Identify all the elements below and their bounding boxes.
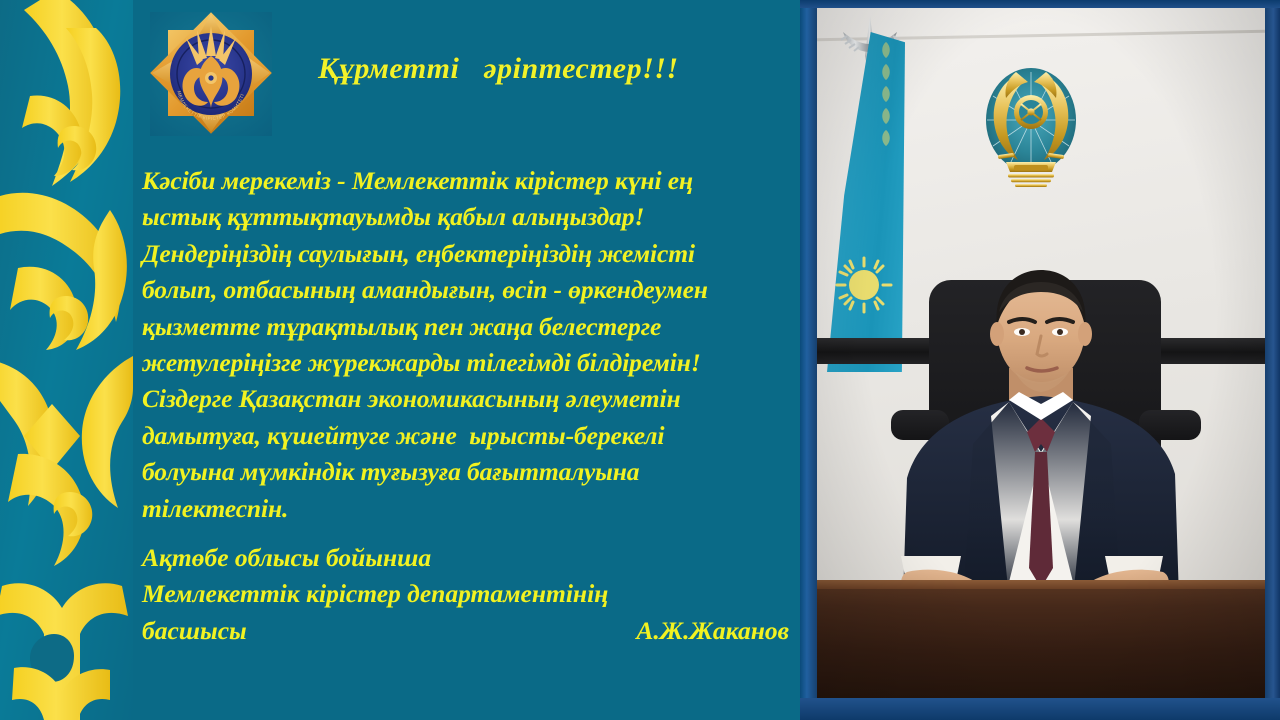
greeting-card: МЕМЛЕКЕТТІК КІРІСТЕР КОМИТЕТІ Құрметті ә… xyxy=(0,0,1280,720)
state-revenue-committee-logo: МЕМЛЕКЕТТІК КІРІСТЕР КОМИТЕТІ xyxy=(150,12,272,136)
photo-frame-bottom xyxy=(800,698,1280,720)
photo-vignette xyxy=(817,8,1265,698)
photo-frame-right xyxy=(1265,0,1280,720)
greeting-heading: Құрметті әріптестер!!! xyxy=(318,52,679,86)
message-body: Кәсіби мерекеміз - Мемлекеттік кірістер … xyxy=(142,163,800,527)
signature-region: Ақтөбе облысы бойынша xyxy=(142,540,800,576)
message-line: қызметте тұрақтылық пен жаңа белестерге xyxy=(142,309,800,345)
message-line: Дендеріңіздің саулығын, еңбектеріңіздің … xyxy=(142,236,800,272)
message-line: Кәсіби мерекеміз - Мемлекеттік кірістер … xyxy=(142,163,800,199)
message-line: болып, отбасының амандығын, өсіп - өркен… xyxy=(142,272,800,308)
message-line: болуына мүмкіндік туғызуға бағытталуына xyxy=(142,454,800,490)
signature-department: Мемлекеттік кірістер департаментінің xyxy=(142,576,800,612)
message-line: дамытуға, күшейтуге және ырысты-берекелі xyxy=(142,418,800,454)
photo-content xyxy=(817,8,1265,698)
kazakh-ornament-strip xyxy=(0,0,133,720)
signature-name: А.Ж.Жаканов xyxy=(636,613,789,649)
message-line: Сіздерге Қазақстан экономикасының әлеуме… xyxy=(142,381,800,417)
message-panel: МЕМЛЕКЕТТІК КІРІСТЕР КОМИТЕТІ Құрметті ә… xyxy=(133,0,800,720)
official-portrait-photo xyxy=(800,0,1280,720)
signature-role-name-row: басшысы А.Ж.Жаканов xyxy=(142,613,789,649)
signature-role: басшысы xyxy=(142,613,247,649)
signature-block: Ақтөбе облысы бойынша Мемлекеттік кіріст… xyxy=(142,540,800,649)
message-line: тілектеспін. xyxy=(142,491,800,527)
message-line: ыстық құттықтауымды қабыл алыңыздар! xyxy=(142,199,800,235)
photo-frame-top xyxy=(800,0,1280,8)
photo-frame-left xyxy=(800,0,817,720)
message-line: жетулеріңізге жүрекжарды тілегімді білді… xyxy=(142,345,800,381)
header-row: МЕМЛЕКЕТТІК КІРІСТЕР КОМИТЕТІ Құрметті ә… xyxy=(142,8,800,136)
